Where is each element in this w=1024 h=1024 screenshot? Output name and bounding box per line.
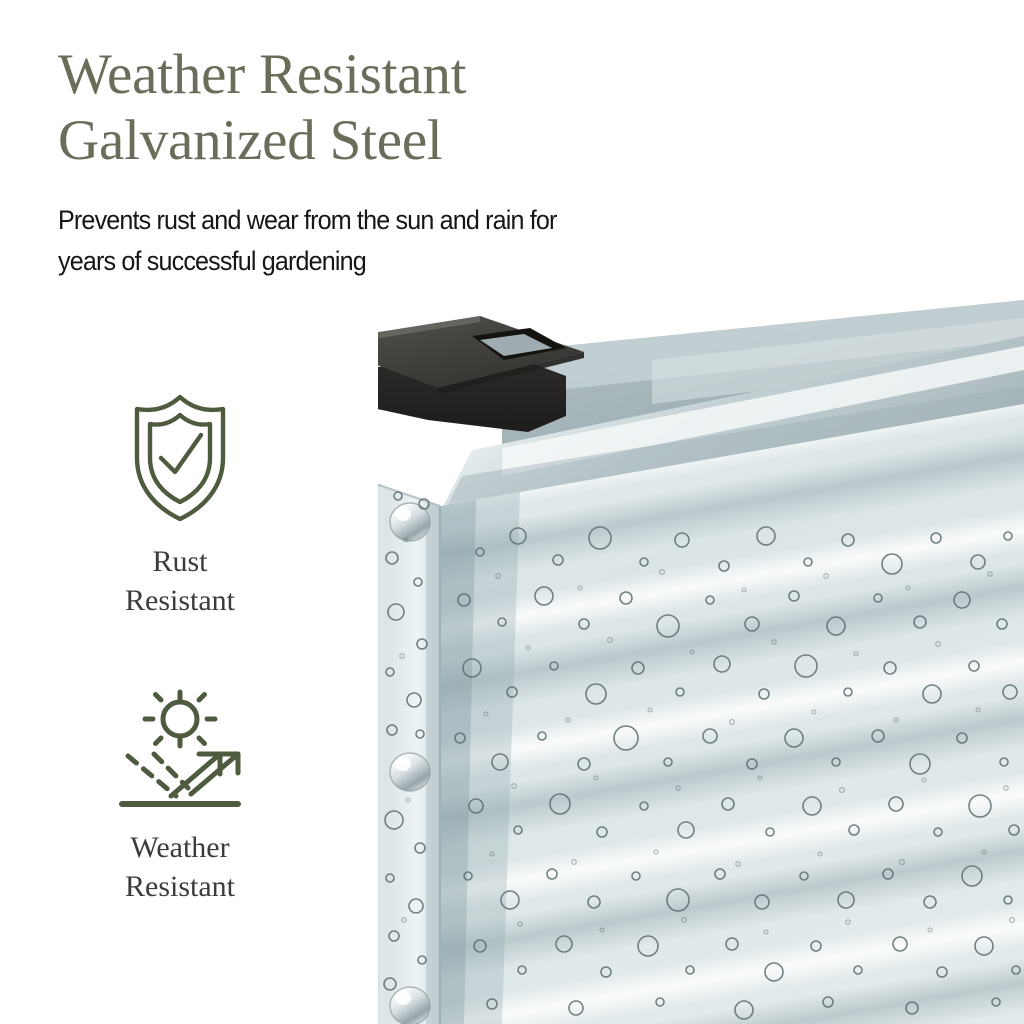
feature-caption: Weather Resistant <box>50 828 310 906</box>
feature-caption: Rust Resistant <box>50 542 310 620</box>
page-title-line2: Galvanized Steel <box>58 108 758 174</box>
feature-rust-resistant: Rust Resistant <box>50 392 310 620</box>
feature-caption-line1: Rust <box>152 545 207 578</box>
feature-caption-line2: Resistant <box>50 867 310 906</box>
feature-caption-line1: Weather <box>130 831 229 864</box>
product-photo <box>352 300 1024 1024</box>
page-subtitle-line1: Prevents rust and wear from the sun and … <box>58 205 557 235</box>
product-feature-graphic: Weather Resistant Galvanized Steel Preve… <box>0 0 1024 1024</box>
feature-weather-resistant: Weather Resistant <box>50 688 310 906</box>
shield-check-icon <box>50 392 310 524</box>
page-subtitle: Prevents rust and wear from the sun and … <box>58 200 690 282</box>
sun-deflect-icon <box>50 688 310 812</box>
page-title-line1: Weather Resistant <box>58 43 466 106</box>
page-subtitle-line2: years of successful gardening <box>58 241 690 282</box>
feature-caption-line2: Resistant <box>50 581 310 620</box>
page-title: Weather Resistant Galvanized Steel <box>58 42 758 174</box>
